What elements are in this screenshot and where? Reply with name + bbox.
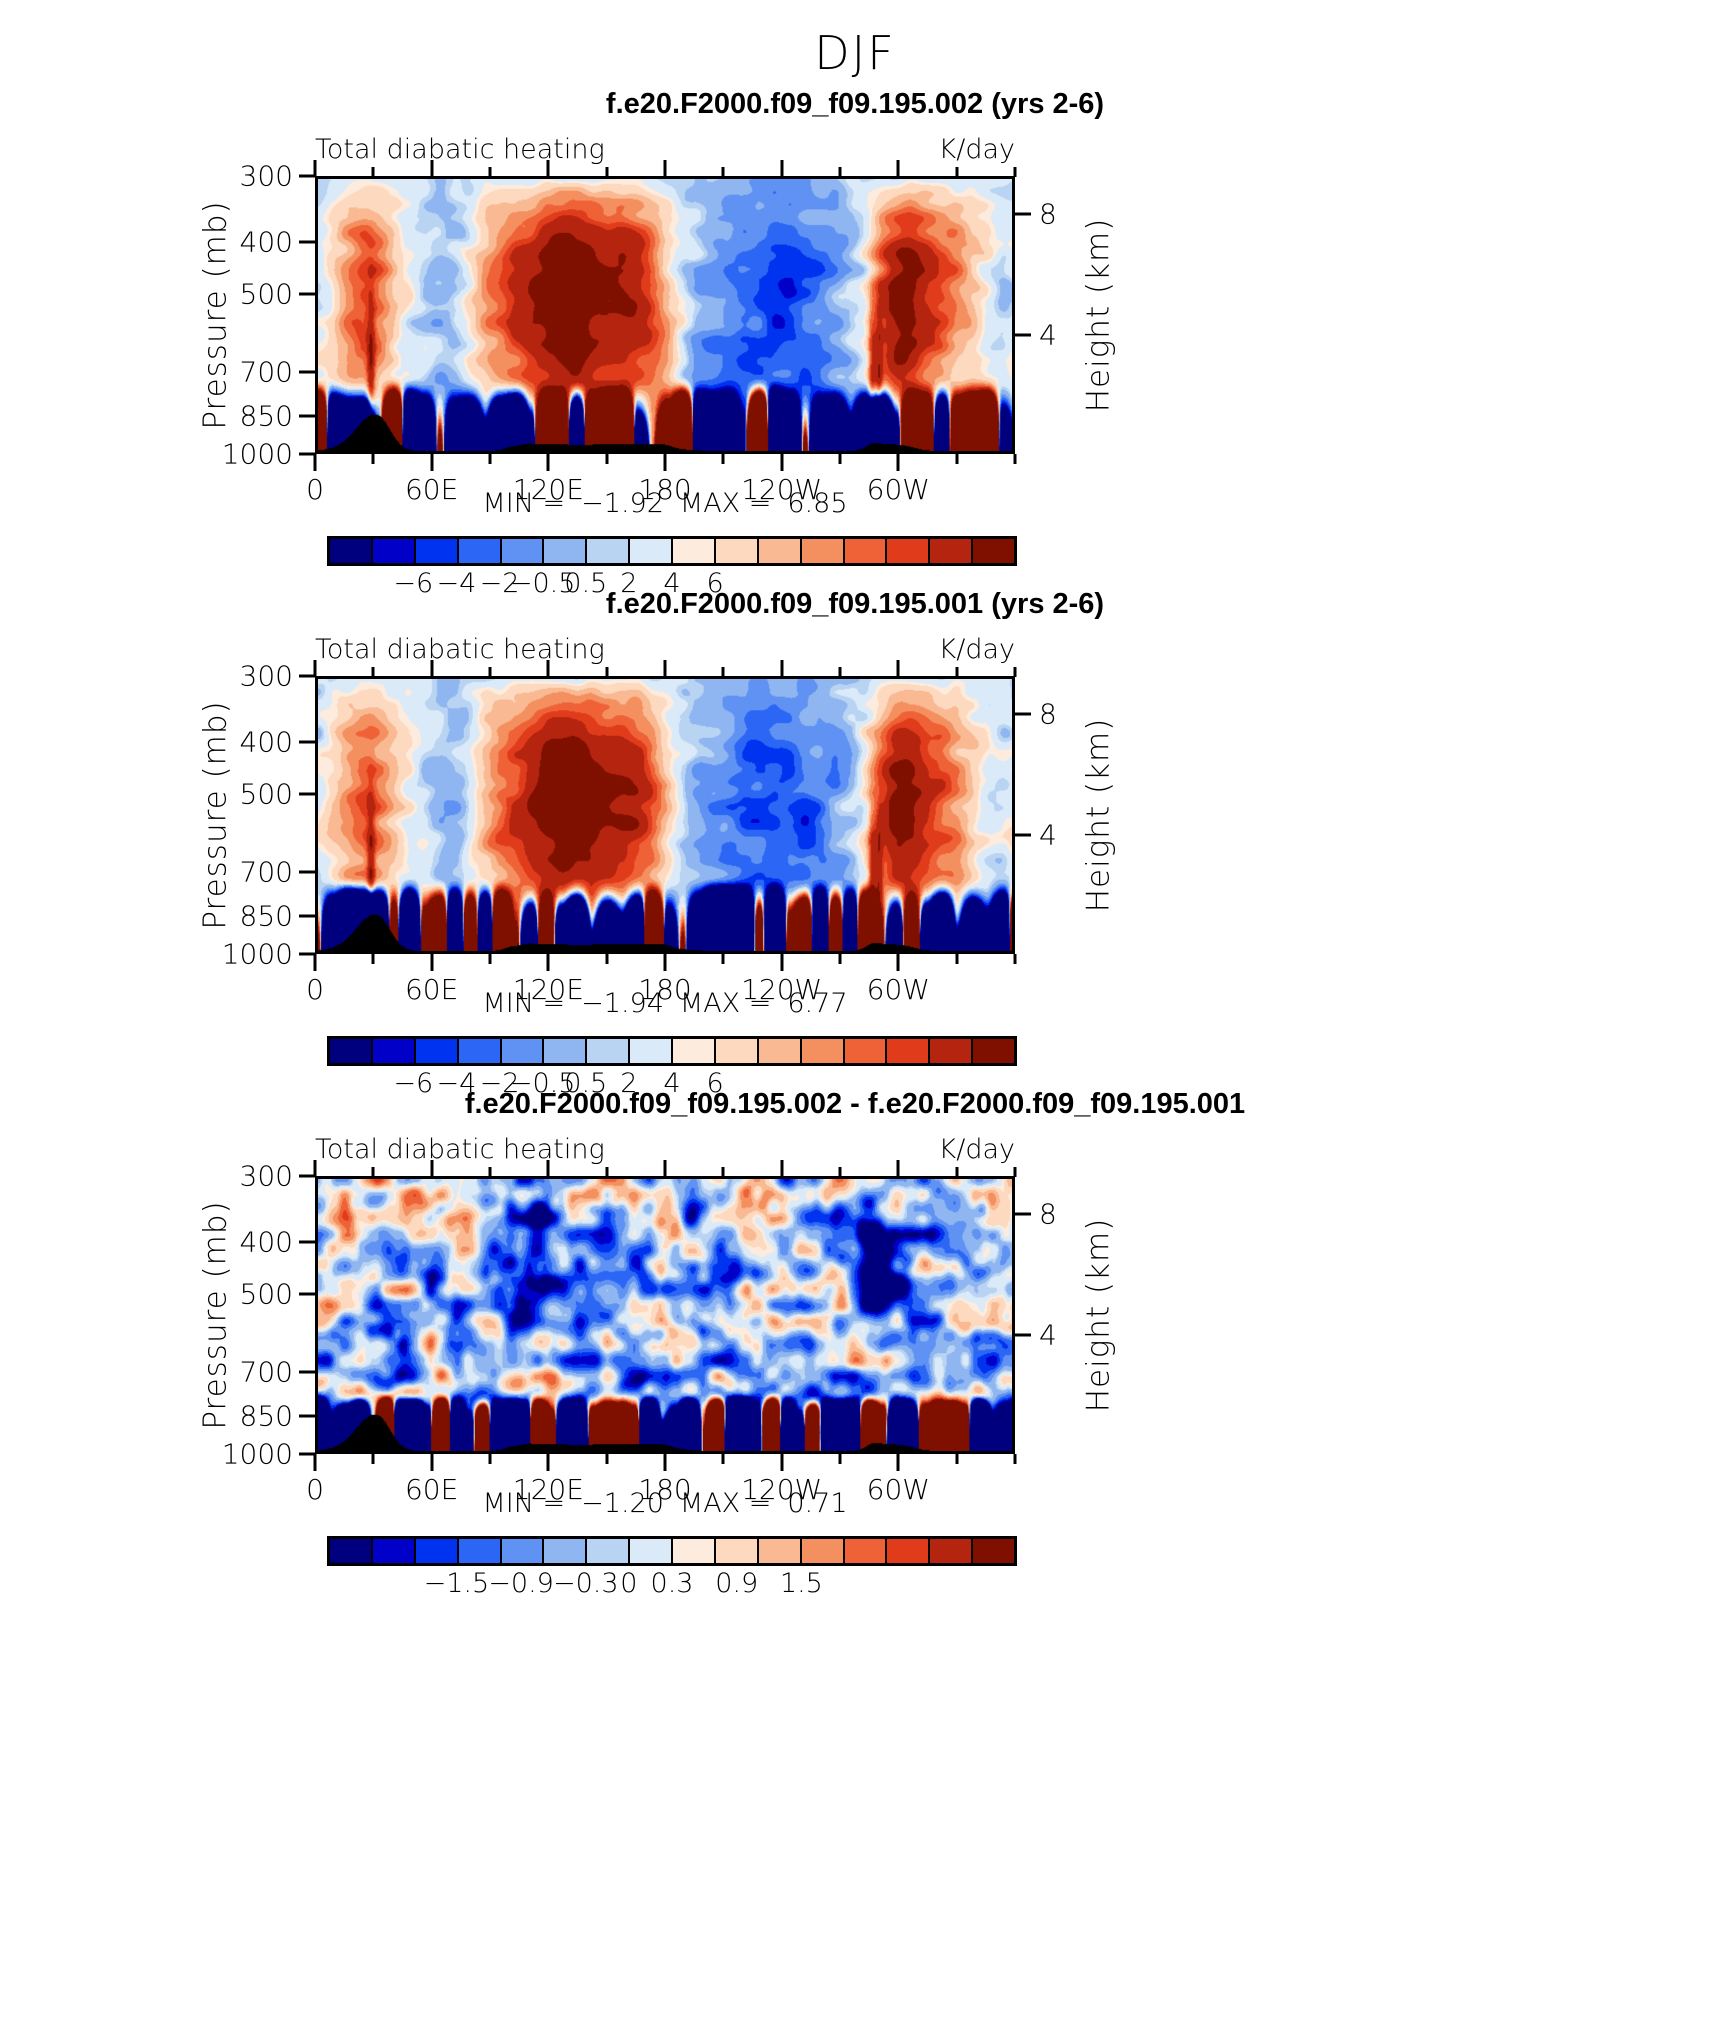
x-tick-mark [372,1454,375,1464]
y-tick-label: 1000 [222,938,293,971]
top-tick-mark [547,660,550,677]
x-tick-mark [664,954,667,971]
y-axis-ticks: 3004005007008501000 [236,176,315,454]
colorbar-cell [416,1539,459,1563]
colorbar-cell [544,1539,587,1563]
x-tick-mark [547,1454,550,1471]
x-tick-mark [314,454,317,471]
y2-axis-ticks: 84 [1015,176,1085,454]
colorbar-cell [416,1039,459,1063]
colorbar-cell [587,1539,630,1563]
y2-tick-mark [1015,834,1031,837]
top-tick-mark [897,1160,900,1177]
x-tick-mark [664,1454,667,1471]
min-value: −1.20 [581,1488,664,1519]
y-tick-label: 500 [240,1277,293,1310]
min-label: MIN = [482,488,565,519]
top-tick-mark [314,1160,317,1177]
colorbar-cell [759,1539,802,1563]
top-tick-mark [314,660,317,677]
contour-plot-area [315,676,1015,954]
panel-title: f.e20.F2000.f09_f09.195.001 (yrs 2-6) [0,588,1710,621]
y-tick-label: 400 [240,726,293,759]
colorbar-cell [459,539,502,563]
y2-axis-ticks: 84 [1015,676,1085,954]
top-tick-mark [547,160,550,177]
y-tick-mark [299,1370,315,1373]
y-axis-title: Pressure (mb) [196,1176,236,1454]
top-axis-ticks [315,1159,1015,1177]
x-tick-mark [430,454,433,471]
contour-plot-area [315,176,1015,454]
y-tick-mark [299,792,315,795]
colorbar-labels: −1.5−0.9−0.300.30.91.5 [327,1568,1017,1602]
y-tick-label: 850 [240,1400,293,1433]
y2-tick-label: 8 [1039,697,1057,730]
x-tick-mark [955,954,958,964]
colorbar-cell [502,1539,545,1563]
y-tick-mark [299,370,315,373]
x-tick-mark [780,954,783,971]
colorbar-cell [887,539,930,563]
top-tick-mark [430,660,433,677]
y-tick-mark [299,415,315,418]
max-label: MAX = [680,1488,771,1519]
contour-canvas [318,1179,1012,1451]
y-axis-title: Pressure (mb) [196,676,236,954]
x-tick-mark [1014,1454,1017,1464]
colorbar-tick-label: −0.3 [553,1568,619,1599]
x-tick-mark [722,454,725,464]
minmax-readout: MIN =−1.92MAX =6.85 [315,488,1015,519]
x-tick-mark [489,1454,492,1464]
top-tick-mark [664,660,667,677]
x-tick-mark [372,954,375,964]
min-value: −1.94 [581,988,664,1019]
y-axis-ticks: 3004005007008501000 [236,676,315,954]
figure-root: DJF f.e20.F2000.f09_f09.195.002 (yrs 2-6… [0,0,1710,2038]
colorbar-cell [373,539,416,563]
y-tick-label: 400 [240,226,293,259]
colorbar-cell [759,539,802,563]
x-tick-mark [722,954,725,964]
y2-tick-label: 8 [1039,197,1057,230]
colorbar-strip [327,1536,1017,1566]
y-tick-label: 300 [240,660,293,693]
colorbar-cell [887,1039,930,1063]
colorbar-cell [716,539,759,563]
y2-tick-mark [1015,712,1031,715]
colorbar-cell [673,1039,716,1063]
colorbar-cell [973,1039,1014,1063]
colorbar-cell [544,539,587,563]
y-tick-mark [299,292,315,295]
top-tick-mark [430,160,433,177]
y2-tick-label: 8 [1039,1197,1057,1230]
x-tick-mark [547,954,550,971]
x-tick-mark [664,454,667,471]
colorbar-cell [673,1539,716,1563]
y-tick-label: 500 [240,277,293,310]
y-axis-ticks: 3004005007008501000 [236,1176,315,1454]
contour-canvas [318,179,1012,451]
colorbar-cell [502,1039,545,1063]
colorbar-tick-label: 0.9 [715,1568,758,1599]
contour-plot-area [315,1176,1015,1454]
contour-canvas [318,679,1012,951]
panel-title: f.e20.F2000.f09_f09.195.002 (yrs 2-6) [0,88,1710,121]
x-tick-mark [839,454,842,464]
panel-title: f.e20.F2000.f09_f09.195.002 - f.e20.F200… [0,1088,1710,1121]
colorbar-cell [587,1039,630,1063]
colorbar-cell [759,1039,802,1063]
max-label: MAX = [680,988,771,1019]
colorbar-cell [930,539,973,563]
colorbar-tick-label: 0 [620,1568,637,1599]
colorbar-strip [327,1036,1017,1066]
top-tick-mark [314,160,317,177]
y-tick-label: 400 [240,1226,293,1259]
colorbar: −1.5−0.9−0.300.30.91.5 [327,1536,1017,1602]
y2-axis-ticks: 84 [1015,1176,1085,1454]
max-value: 0.71 [787,1488,847,1519]
y-tick-label: 1000 [222,438,293,471]
top-tick-mark [430,1160,433,1177]
y-tick-label: 850 [240,900,293,933]
min-label: MIN = [482,1488,565,1519]
y-tick-label: 700 [240,355,293,388]
colorbar-cell [802,539,845,563]
x-tick-mark [780,1454,783,1471]
x-tick-mark [605,954,608,964]
x-tick-mark [1014,954,1017,964]
colorbar-cell [973,539,1014,563]
colorbar-cell [802,1039,845,1063]
x-tick-mark [839,1454,842,1464]
colorbar-cell [930,1039,973,1063]
colorbar-cell [373,1539,416,1563]
colorbar-cell [330,1539,373,1563]
max-value: 6.85 [787,488,847,519]
colorbar-cell [845,1039,888,1063]
colorbar-cell [459,1039,502,1063]
y2-tick-mark [1015,212,1031,215]
colorbar-cell [330,539,373,563]
colorbar-cell [502,539,545,563]
x-tick-mark [839,954,842,964]
max-label: MAX = [680,488,771,519]
colorbar-cell [887,1539,930,1563]
x-tick-mark [372,454,375,464]
y2-tick-mark [1015,1212,1031,1215]
colorbar-cell [587,539,630,563]
max-value: 6.77 [787,988,847,1019]
y-tick-label: 700 [240,855,293,888]
min-label: MIN = [482,988,565,1019]
colorbar-cell [459,1539,502,1563]
minmax-readout: MIN =−1.20MAX =0.71 [315,1488,1015,1519]
x-tick-mark [605,1454,608,1464]
colorbar-cell [630,539,673,563]
x-tick-mark [897,1454,900,1471]
min-value: −1.92 [581,488,664,519]
x-tick-mark [722,1454,725,1464]
x-tick-mark [897,454,900,471]
y2-tick-label: 4 [1039,319,1057,352]
top-tick-mark [664,160,667,177]
x-tick-mark [314,1454,317,1471]
y-tick-mark [299,1241,315,1244]
colorbar-cell [845,1539,888,1563]
colorbar-cell [716,1539,759,1563]
colorbar-cell [544,1039,587,1063]
top-tick-mark [897,660,900,677]
y2-tick-label: 4 [1039,1319,1057,1352]
x-tick-mark [430,954,433,971]
y-tick-mark [299,1292,315,1295]
y2-tick-mark [1015,1334,1031,1337]
x-tick-mark [430,1454,433,1471]
x-tick-mark [314,954,317,971]
colorbar-cell [716,1039,759,1063]
minmax-readout: MIN =−1.94MAX =6.77 [315,988,1015,1019]
x-tick-mark [897,954,900,971]
colorbar-cell [630,1539,673,1563]
x-tick-mark [780,454,783,471]
y-tick-label: 850 [240,400,293,433]
colorbar-cell [930,1539,973,1563]
top-tick-mark [664,1160,667,1177]
colorbar-cell [373,1039,416,1063]
x-tick-mark [955,1454,958,1464]
season-title: DJF [0,26,1710,80]
y-tick-mark [299,915,315,918]
y-tick-mark [299,741,315,744]
x-tick-mark [489,454,492,464]
y-tick-label: 500 [240,777,293,810]
y2-tick-label: 4 [1039,819,1057,852]
colorbar-strip [327,536,1017,566]
y-tick-label: 300 [240,1160,293,1193]
y-tick-mark [299,241,315,244]
colorbar-tick-label: −1.5 [424,1568,490,1599]
y-axis-title: Pressure (mb) [196,176,236,454]
x-tick-mark [605,454,608,464]
colorbar-cell [630,1039,673,1063]
colorbar-cell [330,1039,373,1063]
y-tick-mark [299,1415,315,1418]
colorbar-cell [416,539,459,563]
top-axis-ticks [315,159,1015,177]
y2-tick-mark [1015,334,1031,337]
top-tick-mark [780,660,783,677]
x-tick-mark [955,454,958,464]
colorbar-tick-label: −0.9 [488,1568,554,1599]
y-tick-label: 300 [240,160,293,193]
y-tick-mark [299,870,315,873]
x-tick-mark [1014,454,1017,464]
colorbar-cell [802,1539,845,1563]
top-tick-mark [547,1160,550,1177]
top-tick-mark [897,160,900,177]
top-tick-mark [780,1160,783,1177]
colorbar-cell [673,539,716,563]
top-tick-mark [780,160,783,177]
top-axis-ticks [315,659,1015,677]
colorbar-tick-label: 1.5 [780,1568,823,1599]
y-tick-label: 700 [240,1355,293,1388]
y-tick-label: 1000 [222,1438,293,1471]
colorbar-tick-label: 0.3 [651,1568,694,1599]
x-tick-mark [547,454,550,471]
x-tick-mark [489,954,492,964]
colorbar-cell [973,1539,1014,1563]
colorbar-cell [845,539,888,563]
